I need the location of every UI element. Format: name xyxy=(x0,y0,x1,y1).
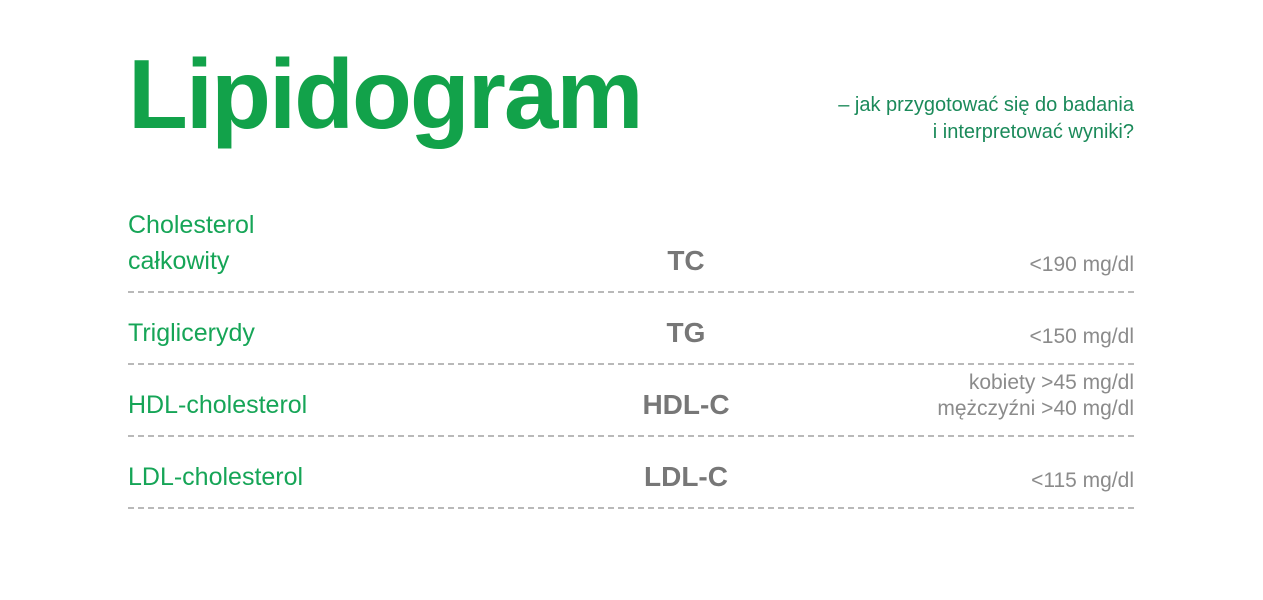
table-row: HDL-cholesterol HDL-C kobiety >45 mg/dl … xyxy=(128,365,1134,437)
reference-value-line: kobiety >45 mg/dl xyxy=(804,370,1134,396)
parameter-abbreviation: LDL-C xyxy=(568,461,804,507)
reference-value-line: <190 mg/dl xyxy=(804,252,1134,278)
parameter-abbreviation: TC xyxy=(568,245,804,291)
parameter-name-line: Cholesterol xyxy=(128,207,568,243)
table-row: LDL-cholesterol LDL-C <115 mg/dl xyxy=(128,437,1134,509)
lipid-panel-table: Cholesterol całkowity TC <190 mg/dl Trig… xyxy=(128,205,1134,509)
parameter-name: Triglicerydy xyxy=(128,315,568,363)
parameter-name-line: Triglicerydy xyxy=(128,315,568,351)
reference-value: <150 mg/dl xyxy=(804,324,1134,363)
subtitle-line-1: – jak przygotować się do badania xyxy=(752,92,1134,119)
infographic-page: Lipidogram – jak przygotować się do bada… xyxy=(0,0,1263,600)
parameter-abbreviation: TG xyxy=(568,317,804,363)
parameter-name: LDL-cholesterol xyxy=(128,459,568,507)
reference-value-line: <150 mg/dl xyxy=(804,324,1134,350)
header: Lipidogram – jak przygotować się do bada… xyxy=(0,0,1263,190)
parameter-name-line: LDL-cholesterol xyxy=(128,459,568,495)
parameter-name-line: HDL-cholesterol xyxy=(128,387,568,423)
reference-value-line: <115 mg/dl xyxy=(804,468,1134,494)
subtitle-line-2: i interpretować wyniki? xyxy=(752,119,1134,146)
reference-value-line: mężczyźni >40 mg/dl xyxy=(804,396,1134,422)
parameter-name: Cholesterol całkowity xyxy=(128,207,568,291)
page-title: Lipidogram xyxy=(128,42,642,146)
reference-value: kobiety >45 mg/dl mężczyźni >40 mg/dl xyxy=(804,370,1134,435)
table-row: Cholesterol całkowity TC <190 mg/dl xyxy=(128,205,1134,293)
parameter-abbreviation: HDL-C xyxy=(568,389,804,435)
table-row: Triglicerydy TG <150 mg/dl xyxy=(128,293,1134,365)
parameter-name: HDL-cholesterol xyxy=(128,387,568,435)
parameter-name-line: całkowity xyxy=(128,243,568,279)
page-subtitle: – jak przygotować się do badania i inter… xyxy=(752,92,1134,146)
reference-value: <190 mg/dl xyxy=(804,252,1134,291)
reference-value: <115 mg/dl xyxy=(804,468,1134,507)
